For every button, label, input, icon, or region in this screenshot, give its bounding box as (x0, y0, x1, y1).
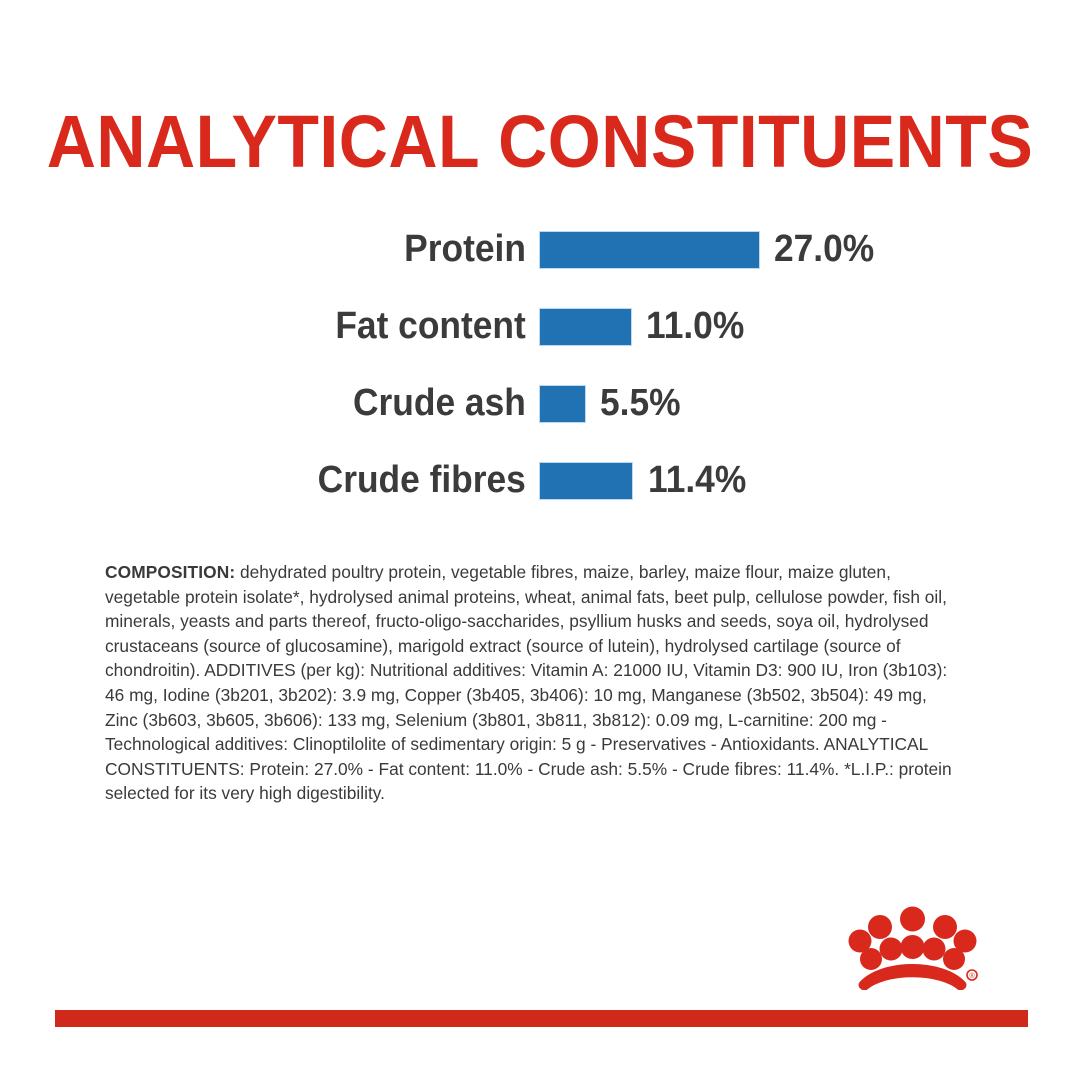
bar-fill-crude-ash (539, 385, 586, 423)
crown-arc-icon (863, 969, 962, 990)
table-row: Crude ash 5.5% (0, 376, 1080, 453)
composition-body-text: dehydrated poultry protein, vegetable fi… (105, 562, 952, 803)
bar-value-fat-content: 11.0% (646, 305, 744, 347)
bar-track-crude-fibres (539, 462, 633, 500)
composition-paragraph: COMPOSITION: dehydrated poultry protein,… (105, 560, 964, 806)
bar-fill-protein (539, 231, 760, 269)
bar-track-protein (539, 231, 760, 269)
bar-track-fat-content (539, 308, 632, 346)
bar-label-crude-fibres: Crude fibres (318, 459, 526, 501)
royal-canin-crown-logo: ® (845, 905, 980, 990)
table-row: Protein 27.0% (0, 222, 1080, 299)
nutrition-panel: ANALYTICAL CONSTITUENTS Protein 27.0% Fa… (0, 0, 1080, 1080)
page-title: ANALYTICAL CONSTITUENTS (43, 103, 1037, 181)
crown-dots-icon (849, 907, 977, 971)
bar-label-protein: Protein (404, 228, 526, 270)
bar-fill-crude-fibres (539, 462, 633, 500)
bar-label-crude-ash: Crude ash (353, 382, 526, 424)
bar-label-fat-content: Fat content (336, 305, 526, 347)
analytical-constituents-chart: Protein 27.0% Fat content 11.0% Crude as… (0, 222, 1080, 530)
bar-track-crude-ash (539, 385, 586, 423)
bar-value-protein: 27.0% (774, 228, 874, 270)
bar-fill-fat-content (539, 308, 632, 346)
table-row: Crude fibres 11.4% (0, 453, 1080, 530)
bottom-accent-bar (55, 1010, 1028, 1027)
bar-value-crude-fibres: 11.4% (648, 459, 746, 501)
table-row: Fat content 11.0% (0, 299, 1080, 376)
bar-value-crude-ash: 5.5% (600, 382, 681, 424)
composition-lead-label: COMPOSITION: (105, 562, 235, 582)
registered-trademark-glyph: ® (969, 972, 975, 980)
